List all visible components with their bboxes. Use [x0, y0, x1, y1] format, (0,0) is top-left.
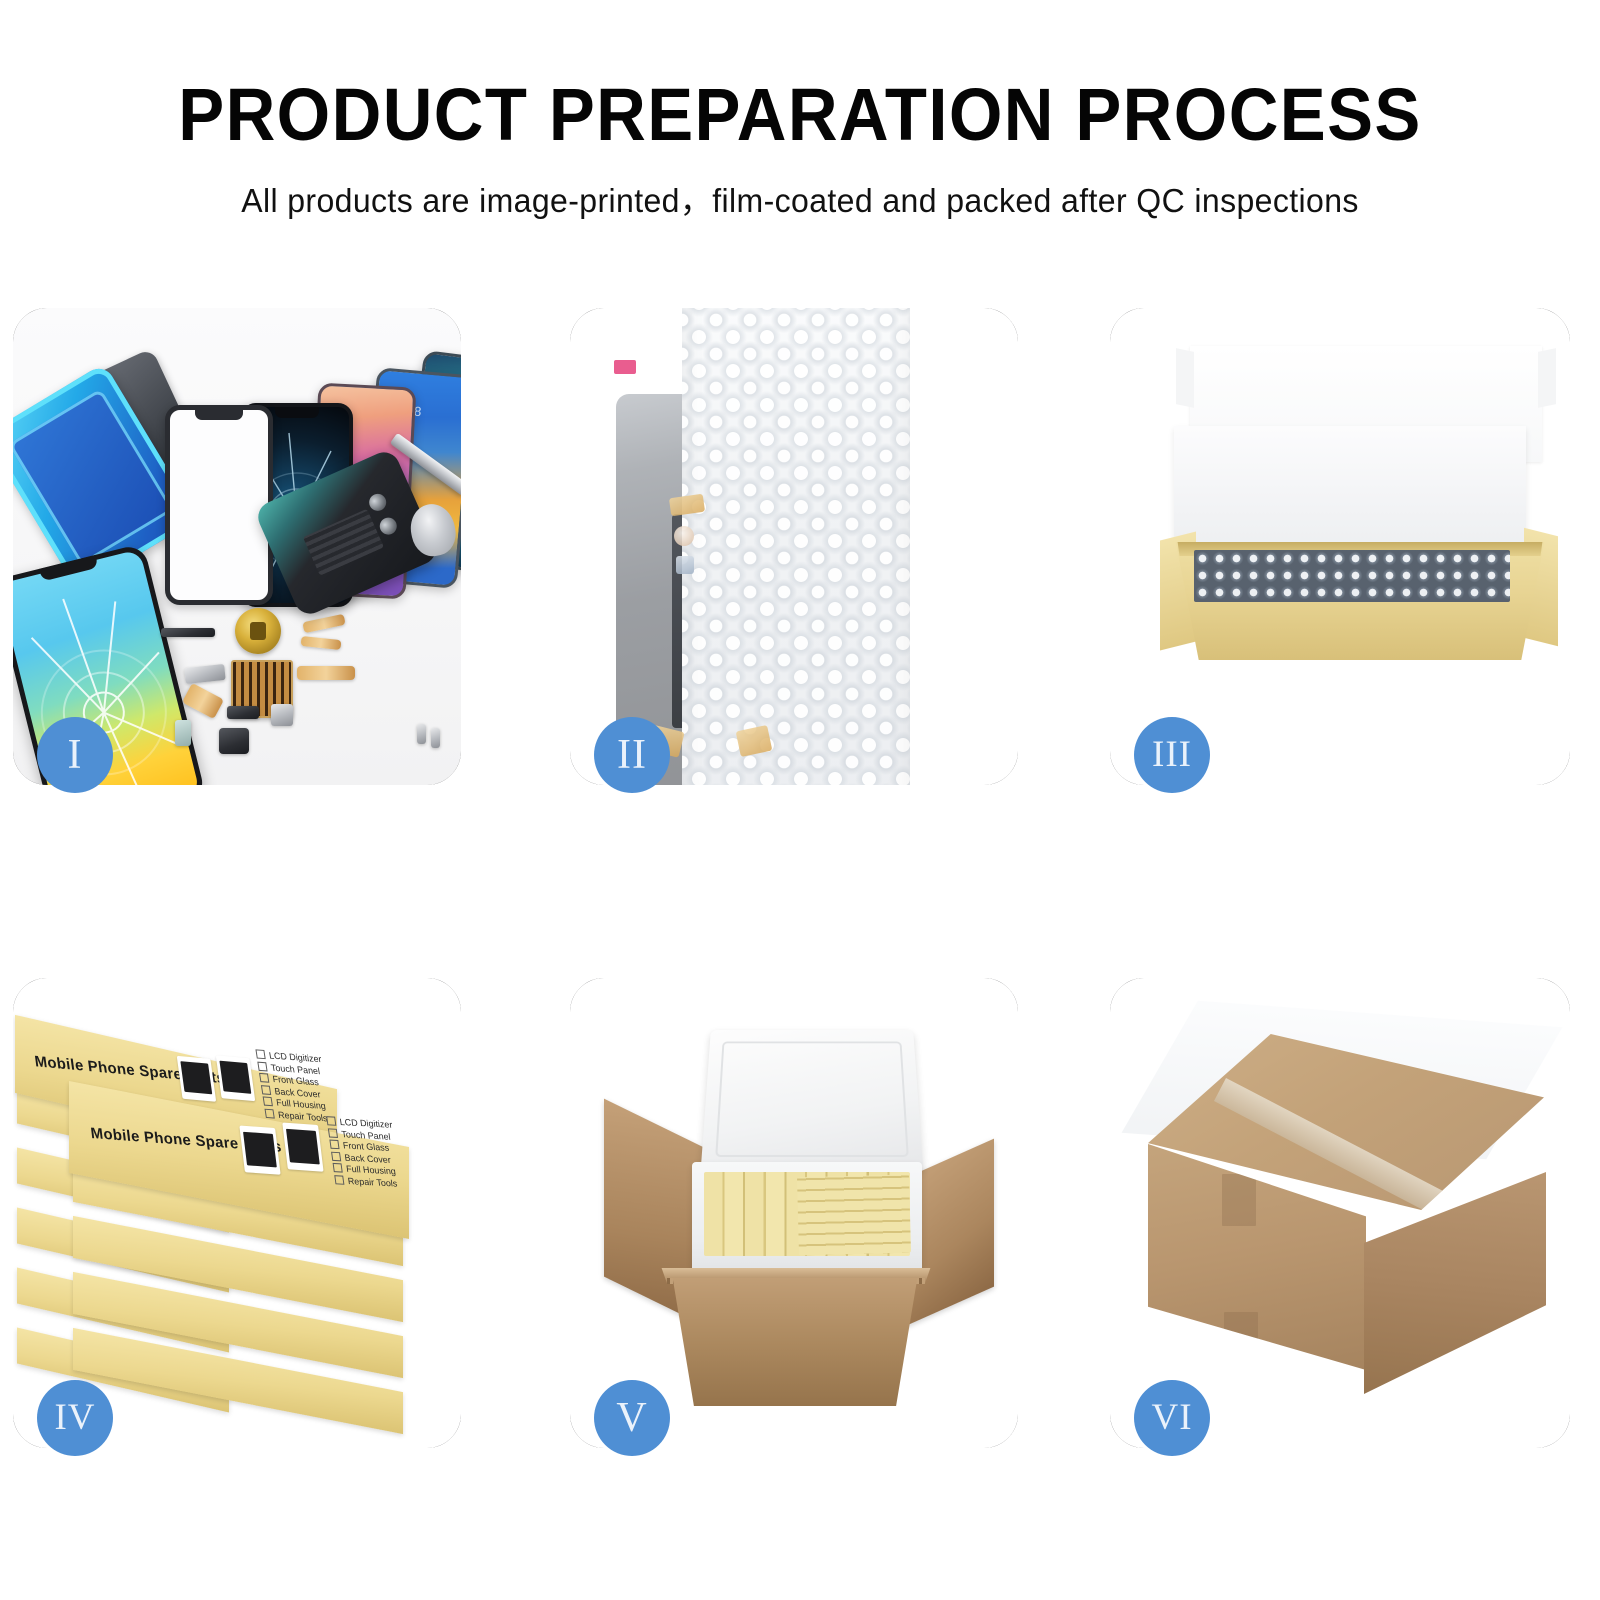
open-carton-graphic [600, 1000, 1000, 1430]
lcd-sensor-chip [676, 556, 694, 574]
box-thumb-front-b [282, 1122, 323, 1171]
step-panel-image-clip [570, 978, 1018, 1448]
step-badge-3: III [1134, 717, 1210, 793]
earpiece-speaker-mesh [161, 628, 215, 637]
bubble-wrap-bag [682, 308, 910, 785]
yellow-boxes-inside-right [797, 1175, 911, 1256]
carton-seam-tab-upper [1222, 1174, 1256, 1226]
carton-body [662, 1278, 928, 1406]
step-panel-image-clip: Mobile Phone Spare Parts LCD Digitizer T… [13, 978, 461, 1448]
screw-b [431, 728, 440, 748]
box-checklist-rear: LCD Digitizer Touch Panel Front Glass Ba… [255, 1049, 331, 1124]
vibration-motor [227, 706, 259, 719]
lcd-camera-dot [674, 526, 694, 546]
box-thumb-rear-b [216, 1055, 256, 1101]
side-button-flex [297, 666, 355, 680]
camera-lens-b [377, 515, 399, 537]
sim-tray [175, 720, 191, 746]
page-subtitle: All products are image-printed，film-coat… [24, 152, 1576, 222]
pink-qc-sticker [614, 360, 636, 374]
step-badge-5: V [594, 1380, 670, 1456]
step-badge-6: VI [1134, 1380, 1210, 1456]
box-checklist-front: LCD Digitizer Touch Panel Front Glass Ba… [326, 1116, 401, 1190]
front-glass-notch [195, 409, 243, 420]
box-thumb-front-a [239, 1125, 280, 1174]
sealed-carton-graphic [1124, 1012, 1564, 1412]
box-thumb-rear-a [177, 1056, 217, 1102]
step-panel-image-clip [570, 308, 1018, 785]
step-badge-4: IV [37, 1380, 113, 1456]
step-panel-carton-loading[interactable]: V [570, 978, 1018, 1448]
yellow-box-stack-graphic: Mobile Phone Spare Parts LCD Digitizer T… [13, 996, 461, 1436]
page-title: PRODUCT PREPARATION PROCESS [56, 0, 1544, 152]
camera-lens-a [366, 491, 388, 513]
battery-graphic [303, 509, 384, 576]
step-panel-bubble-wrapped-lcd[interactable]: II [570, 308, 1018, 785]
step-panel-printed-boxes-stack[interactable]: Mobile Phone Spare Parts LCD Digitizer T… [13, 978, 461, 1448]
step-badge-2: II [594, 717, 670, 793]
step-panel-image-clip [1110, 978, 1570, 1448]
box-lid-front-panel [1174, 426, 1526, 560]
page-header: PRODUCT PREPARATION PROCESS All products… [0, 0, 1600, 222]
step-badge-1: I [37, 717, 113, 793]
screw-a [417, 724, 426, 744]
carton-seam-tab-lower [1224, 1312, 1258, 1358]
carton-right-face [1364, 1172, 1546, 1394]
front-glass-graphic [165, 405, 273, 605]
open-mailer-box-graphic [1158, 336, 1570, 756]
dark-display-notch [275, 407, 319, 418]
step-panel-image-clip: 08 08 [13, 308, 461, 785]
step-panel-sealed-carton[interactable]: VI [1110, 978, 1570, 1448]
grey-bubble-wrap-padding [1194, 550, 1510, 602]
wireless-charging-coil [235, 608, 281, 654]
camera-module-small [271, 704, 293, 726]
step-panel-single-box-packing[interactable]: III [1110, 308, 1570, 785]
box-label-front: Mobile Phone Spare Parts LCD Digitizer T… [87, 1102, 408, 1187]
step-panel-image-clip [1110, 308, 1570, 785]
foam-box-lid [701, 1030, 924, 1171]
step-panel-phone-spare-parts[interactable]: 08 08 [13, 308, 461, 785]
speaker-module [219, 728, 249, 754]
